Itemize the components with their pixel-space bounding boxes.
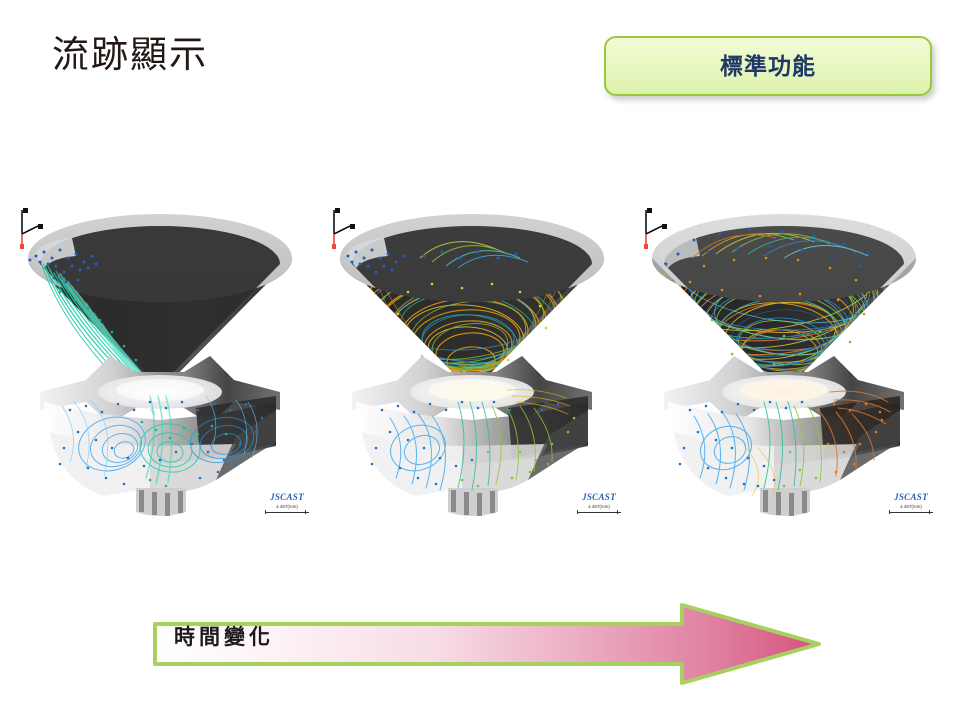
render-step-1-image (0, 196, 320, 526)
timeline-arrow-label: 時間變化 (174, 627, 274, 648)
jscast-watermark: JSCAST 4.467(mm) (261, 493, 313, 515)
slide-canvas: 流跡顯示 標準功能 (0, 0, 960, 720)
scale-bar (261, 510, 313, 514)
jscast-logo: JSCAST (573, 493, 625, 502)
axis-triad-icon (324, 204, 358, 250)
status-badge[interactable]: 標準功能 (604, 36, 932, 96)
scale-bar (885, 510, 937, 514)
scale-bar (573, 510, 625, 514)
render-step-3[interactable]: JSCAST 4.467(mm) (624, 196, 944, 526)
axis-triad-icon (12, 204, 46, 250)
render-step-2-image (312, 196, 632, 526)
render-step-2[interactable]: JSCAST 4.467(mm) (312, 196, 632, 526)
jscast-watermark: JSCAST 4.467(mm) (885, 493, 937, 515)
jscast-watermark: JSCAST 4.467(mm) (573, 493, 625, 515)
render-step-1[interactable]: JSCAST 4.467(mm) (0, 196, 320, 526)
status-badge-label: 標準功能 (720, 55, 816, 78)
scale-bar-label: 4.467(mm) (885, 505, 937, 510)
timeline-arrow: 時間變化 (152, 600, 822, 688)
scale-bar-label: 4.467(mm) (573, 505, 625, 510)
page-title: 流跡顯示 (52, 33, 208, 77)
render-gallery: JSCAST 4.467(mm) (0, 196, 960, 526)
render-step-3-image (624, 196, 944, 526)
scale-bar-label: 4.467(mm) (261, 505, 313, 510)
jscast-logo: JSCAST (261, 493, 313, 502)
jscast-logo: JSCAST (885, 493, 937, 502)
axis-triad-icon (636, 204, 670, 250)
